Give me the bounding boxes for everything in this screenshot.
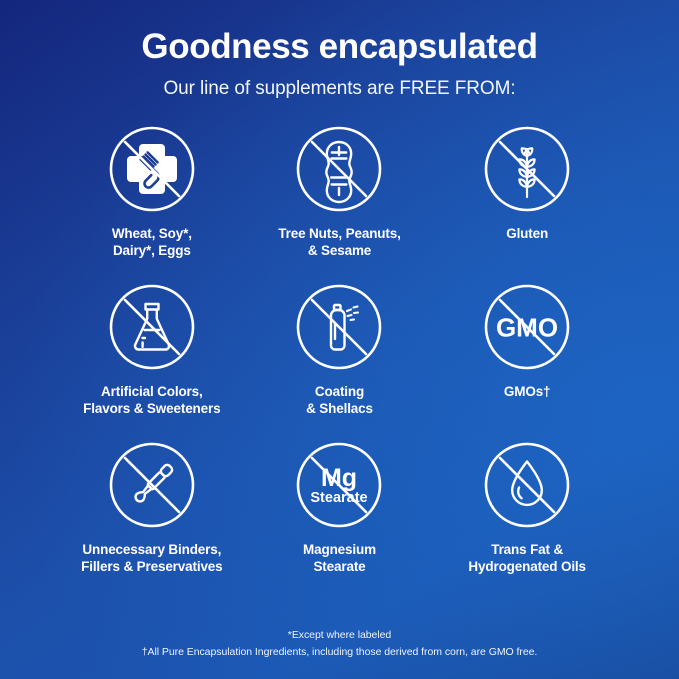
grid-item: Wheat, Soy*, Dairy*, Eggs	[58, 125, 246, 283]
grid-item: Artificial Colors, Flavors & Sweeteners	[58, 283, 246, 441]
grid-item: Unnecessary Binders, Fillers & Preservat…	[58, 441, 246, 599]
page-title: Goodness encapsulated	[0, 28, 679, 67]
grid-item-label: Coating & Shellacs	[306, 383, 373, 419]
header: Goodness encapsulated Our line of supple…	[0, 0, 679, 100]
grid-item: Mg Stearate Magnesium Stearate	[246, 441, 434, 599]
grid-item-label: Wheat, Soy*, Dairy*, Eggs	[112, 225, 192, 261]
grid-item-label: Gluten	[506, 225, 548, 243]
grid-item: Coating & Shellacs	[246, 283, 434, 441]
grid-item-label: Trans Fat & Hydrogenated Oils	[468, 541, 585, 577]
page-subtitle: Our line of supplements are FREE FROM:	[0, 78, 679, 100]
footnotes: *Except where labeled †All Pure Encapsul…	[0, 627, 679, 661]
footnote-dagger: †All Pure Encapsulation Ingredients, inc…	[0, 644, 679, 661]
grid-item: Trans Fat & Hydrogenated Oils	[433, 441, 621, 599]
no-peanut-icon	[295, 125, 383, 213]
no-allergen-cross-fork-icon	[108, 125, 196, 213]
no-gmo-icon: GMO	[483, 283, 571, 371]
grid-item-label: Artificial Colors, Flavors & Sweeteners	[83, 383, 220, 419]
no-oil-droplet-icon	[483, 441, 571, 529]
no-magnesium-stearate-icon: Mg Stearate	[295, 441, 383, 529]
no-wheat-stalk-icon	[483, 125, 571, 213]
mg-badge-text: Mg	[321, 464, 357, 492]
free-from-grid: Wheat, Soy*, Dairy*, Eggs Tree Nuts, Pea…	[0, 125, 679, 599]
grid-item: Gluten	[433, 125, 621, 283]
grid-item-label: GMOs†	[504, 383, 551, 401]
grid-item-label: Tree Nuts, Peanuts, & Sesame	[278, 225, 400, 261]
no-flask-icon	[108, 283, 196, 371]
grid-item: Tree Nuts, Peanuts, & Sesame	[246, 125, 434, 283]
poster: Goodness encapsulated Our line of supple…	[0, 0, 679, 679]
grid-item-label: Magnesium Stearate	[303, 541, 376, 577]
grid-item: GMO GMOs†	[433, 283, 621, 441]
no-dropper-icon	[108, 441, 196, 529]
no-spray-can-icon	[295, 283, 383, 371]
footnote-asterisk: *Except where labeled	[0, 627, 679, 644]
grid-item-label: Unnecessary Binders, Fillers & Preservat…	[81, 541, 222, 577]
